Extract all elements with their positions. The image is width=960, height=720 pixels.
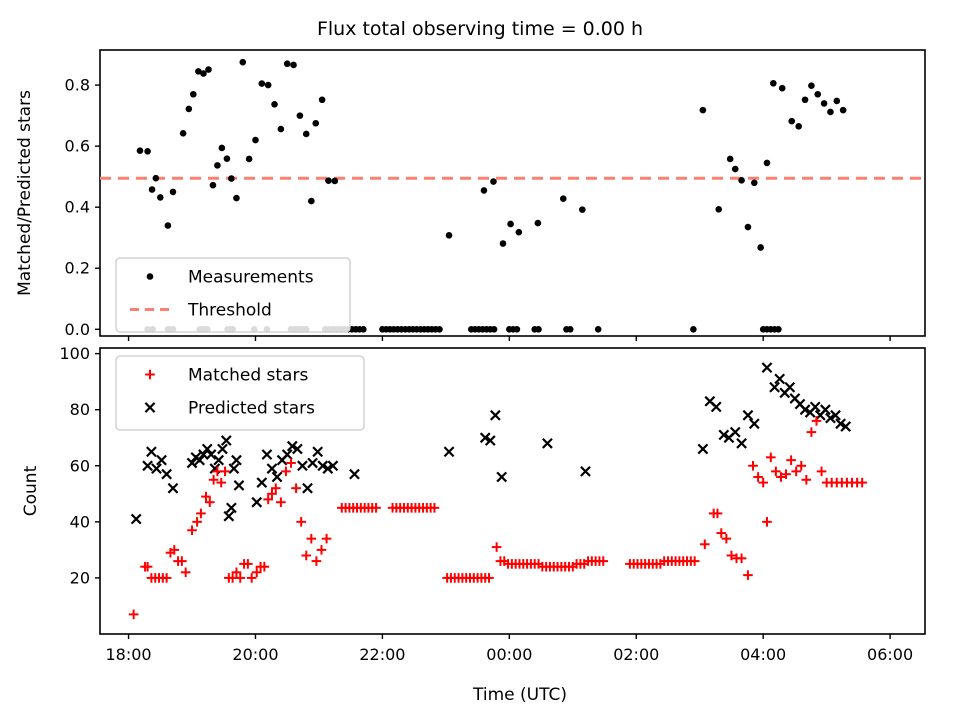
data-point bbox=[239, 59, 246, 66]
data-point bbox=[766, 453, 776, 463]
data-point bbox=[857, 478, 867, 488]
data-point bbox=[317, 545, 327, 555]
data-point bbox=[137, 147, 144, 154]
data-point bbox=[296, 517, 306, 527]
data-point bbox=[227, 503, 236, 512]
data-point bbox=[690, 326, 697, 333]
data-point bbox=[444, 447, 453, 456]
data-point bbox=[753, 472, 763, 482]
data-point bbox=[731, 428, 740, 437]
bottom-y-tick-label: 100 bbox=[59, 344, 90, 363]
data-point bbox=[743, 570, 753, 580]
data-point bbox=[581, 467, 590, 476]
data-point bbox=[788, 118, 795, 125]
data-point bbox=[840, 107, 847, 114]
data-point bbox=[698, 444, 707, 453]
series-measurements bbox=[137, 59, 847, 251]
data-point bbox=[162, 470, 171, 479]
legend-label: Predicted stars bbox=[188, 399, 315, 419]
top-panel-ratio-plot: 0.00.20.40.60.8Matched/Predicted starsMe… bbox=[15, 50, 925, 341]
bottom-x-tick-label: 00:00 bbox=[486, 645, 532, 664]
data-point bbox=[817, 467, 827, 477]
chart-svg: Flux total observing time = 0.00 h 0.00.… bbox=[0, 0, 960, 720]
data-point bbox=[205, 66, 212, 73]
data-point bbox=[303, 131, 310, 138]
data-point bbox=[360, 326, 367, 333]
legend-label: Measurements bbox=[188, 268, 314, 288]
bottom-panel-y-axis-label: Count bbox=[21, 465, 41, 516]
data-point bbox=[491, 411, 500, 420]
data-point bbox=[224, 512, 233, 521]
data-point bbox=[802, 475, 812, 485]
data-point bbox=[732, 166, 739, 173]
data-point bbox=[821, 405, 830, 414]
data-point bbox=[187, 525, 197, 535]
data-point bbox=[308, 458, 317, 467]
data-point bbox=[514, 326, 521, 333]
data-point bbox=[712, 402, 721, 411]
data-point bbox=[560, 195, 567, 202]
data-point bbox=[436, 326, 443, 333]
data-point bbox=[319, 96, 326, 103]
bottom-y-tick-label: 20 bbox=[70, 568, 90, 587]
x-axis-label: Time (UTC) bbox=[472, 685, 567, 705]
bottom-x-tick-label: 06:00 bbox=[867, 645, 913, 664]
data-point bbox=[579, 206, 586, 213]
legend: MeasurementsThreshold bbox=[116, 258, 350, 332]
figure-canvas: Flux total observing time = 0.00 h 0.00.… bbox=[0, 0, 960, 720]
data-point bbox=[186, 106, 193, 113]
data-point bbox=[750, 419, 759, 428]
data-point bbox=[748, 461, 758, 471]
data-point bbox=[149, 186, 156, 193]
data-point bbox=[764, 160, 771, 167]
data-point bbox=[210, 182, 217, 189]
data-point bbox=[775, 374, 784, 383]
data-point bbox=[192, 517, 202, 527]
data-point bbox=[795, 123, 802, 130]
figure-title: Flux total observing time = 0.00 h bbox=[317, 18, 643, 40]
data-point bbox=[265, 82, 272, 89]
data-point bbox=[278, 126, 285, 133]
legend-marker-dot bbox=[147, 273, 154, 280]
data-point bbox=[272, 472, 281, 481]
data-point bbox=[567, 326, 574, 333]
data-point bbox=[715, 206, 722, 213]
data-point bbox=[290, 62, 297, 69]
data-point bbox=[821, 100, 828, 107]
data-point bbox=[722, 534, 732, 544]
data-point bbox=[497, 472, 506, 481]
data-point bbox=[157, 194, 164, 201]
data-point bbox=[259, 80, 266, 87]
data-point bbox=[180, 130, 187, 137]
data-point bbox=[281, 467, 291, 477]
data-point bbox=[492, 542, 502, 552]
data-point bbox=[152, 464, 161, 473]
data-point bbox=[252, 498, 261, 507]
data-point bbox=[785, 383, 794, 392]
data-point bbox=[786, 455, 796, 465]
data-point bbox=[308, 198, 315, 205]
data-point bbox=[297, 112, 304, 119]
data-point bbox=[775, 326, 782, 333]
top-y-tick-label: 0.4 bbox=[65, 198, 90, 217]
data-point bbox=[132, 514, 141, 523]
data-point bbox=[770, 80, 777, 87]
data-point bbox=[153, 175, 160, 182]
data-point bbox=[257, 478, 266, 487]
data-point bbox=[507, 221, 514, 228]
data-point bbox=[350, 470, 359, 479]
data-point bbox=[147, 447, 156, 456]
bottom-panel-count-plot: 2040608010018:0020:0022:0000:0002:0004:0… bbox=[21, 344, 925, 664]
data-point bbox=[751, 179, 758, 186]
top-y-tick-label: 0.2 bbox=[65, 259, 90, 278]
data-point bbox=[233, 195, 240, 202]
data-point bbox=[446, 232, 453, 239]
data-point bbox=[170, 189, 177, 196]
data-point bbox=[229, 464, 238, 473]
data-point bbox=[745, 224, 752, 231]
data-point bbox=[535, 326, 542, 333]
data-point bbox=[143, 461, 152, 470]
data-point bbox=[737, 553, 747, 563]
data-point bbox=[762, 363, 771, 372]
data-point bbox=[168, 484, 177, 493]
data-point bbox=[757, 244, 764, 251]
data-point bbox=[491, 326, 498, 333]
data-point bbox=[700, 539, 710, 549]
legend-label: Matched stars bbox=[188, 366, 308, 386]
data-point bbox=[214, 162, 221, 169]
data-point bbox=[312, 556, 322, 566]
data-point bbox=[827, 109, 834, 116]
data-point bbox=[779, 85, 786, 92]
bottom-x-tick-label: 04:00 bbox=[740, 645, 786, 664]
bottom-y-tick-label: 60 bbox=[70, 456, 90, 475]
data-point bbox=[500, 240, 507, 247]
data-point bbox=[727, 156, 734, 163]
data-point bbox=[762, 517, 772, 527]
data-point bbox=[807, 427, 817, 437]
data-point bbox=[232, 456, 241, 465]
bottom-x-tick-label: 18:00 bbox=[106, 645, 152, 664]
bottom-y-tick-label: 40 bbox=[70, 512, 90, 531]
data-point bbox=[543, 439, 552, 448]
data-point bbox=[301, 551, 311, 561]
data-point bbox=[262, 450, 271, 459]
data-point bbox=[271, 101, 278, 108]
data-point bbox=[808, 82, 815, 89]
data-point bbox=[286, 458, 296, 468]
data-point bbox=[284, 60, 291, 67]
top-y-tick-label: 0.6 bbox=[65, 137, 90, 156]
data-point bbox=[737, 439, 746, 448]
data-point bbox=[303, 484, 312, 493]
series-matched-stars bbox=[129, 416, 867, 619]
top-y-tick-label: 0.0 bbox=[65, 320, 90, 339]
legend-label: Threshold bbox=[187, 301, 272, 321]
data-point bbox=[516, 229, 523, 236]
data-point bbox=[325, 177, 332, 184]
data-point bbox=[771, 467, 781, 477]
data-point bbox=[291, 483, 301, 493]
top-panel-y-axis-label: Matched/Predicted stars bbox=[15, 90, 35, 296]
data-point bbox=[219, 145, 226, 152]
data-point bbox=[246, 156, 253, 163]
data-point bbox=[490, 178, 497, 185]
data-point bbox=[595, 326, 602, 333]
data-point bbox=[481, 187, 488, 194]
data-point bbox=[796, 461, 806, 471]
bottom-x-tick-label: 22:00 bbox=[359, 645, 405, 664]
data-point bbox=[196, 509, 206, 519]
data-point bbox=[313, 447, 322, 456]
data-point bbox=[814, 91, 821, 98]
data-point bbox=[220, 467, 230, 477]
data-point bbox=[165, 222, 172, 229]
data-point bbox=[758, 478, 768, 488]
data-point bbox=[247, 573, 257, 583]
data-point bbox=[322, 534, 332, 544]
data-point bbox=[190, 91, 197, 98]
data-point bbox=[144, 148, 151, 155]
data-point bbox=[181, 568, 191, 578]
data-point bbox=[252, 137, 259, 144]
legend: Matched starsPredicted stars bbox=[116, 356, 364, 430]
bottom-y-tick-label: 80 bbox=[70, 400, 90, 419]
data-point bbox=[700, 107, 707, 114]
data-point bbox=[224, 155, 231, 162]
bottom-x-tick-label: 20:00 bbox=[232, 645, 278, 664]
data-point bbox=[267, 464, 276, 473]
data-point bbox=[791, 467, 801, 477]
data-point bbox=[276, 497, 286, 507]
data-point bbox=[535, 220, 542, 227]
top-y-tick-label: 0.8 bbox=[65, 76, 90, 95]
data-point bbox=[298, 461, 307, 470]
data-point bbox=[129, 610, 139, 620]
data-point bbox=[743, 411, 752, 420]
data-point bbox=[312, 120, 319, 127]
data-point bbox=[770, 383, 779, 392]
data-point bbox=[812, 416, 822, 426]
data-point bbox=[716, 528, 726, 538]
data-point bbox=[802, 96, 809, 103]
data-point bbox=[228, 175, 235, 182]
bottom-x-tick-label: 02:00 bbox=[613, 645, 659, 664]
data-point bbox=[157, 456, 166, 465]
data-point bbox=[234, 481, 243, 490]
data-point bbox=[283, 450, 292, 459]
data-point bbox=[307, 534, 317, 544]
data-point bbox=[738, 177, 745, 184]
data-point bbox=[811, 402, 820, 411]
data-point bbox=[332, 178, 339, 185]
data-point bbox=[833, 98, 840, 105]
